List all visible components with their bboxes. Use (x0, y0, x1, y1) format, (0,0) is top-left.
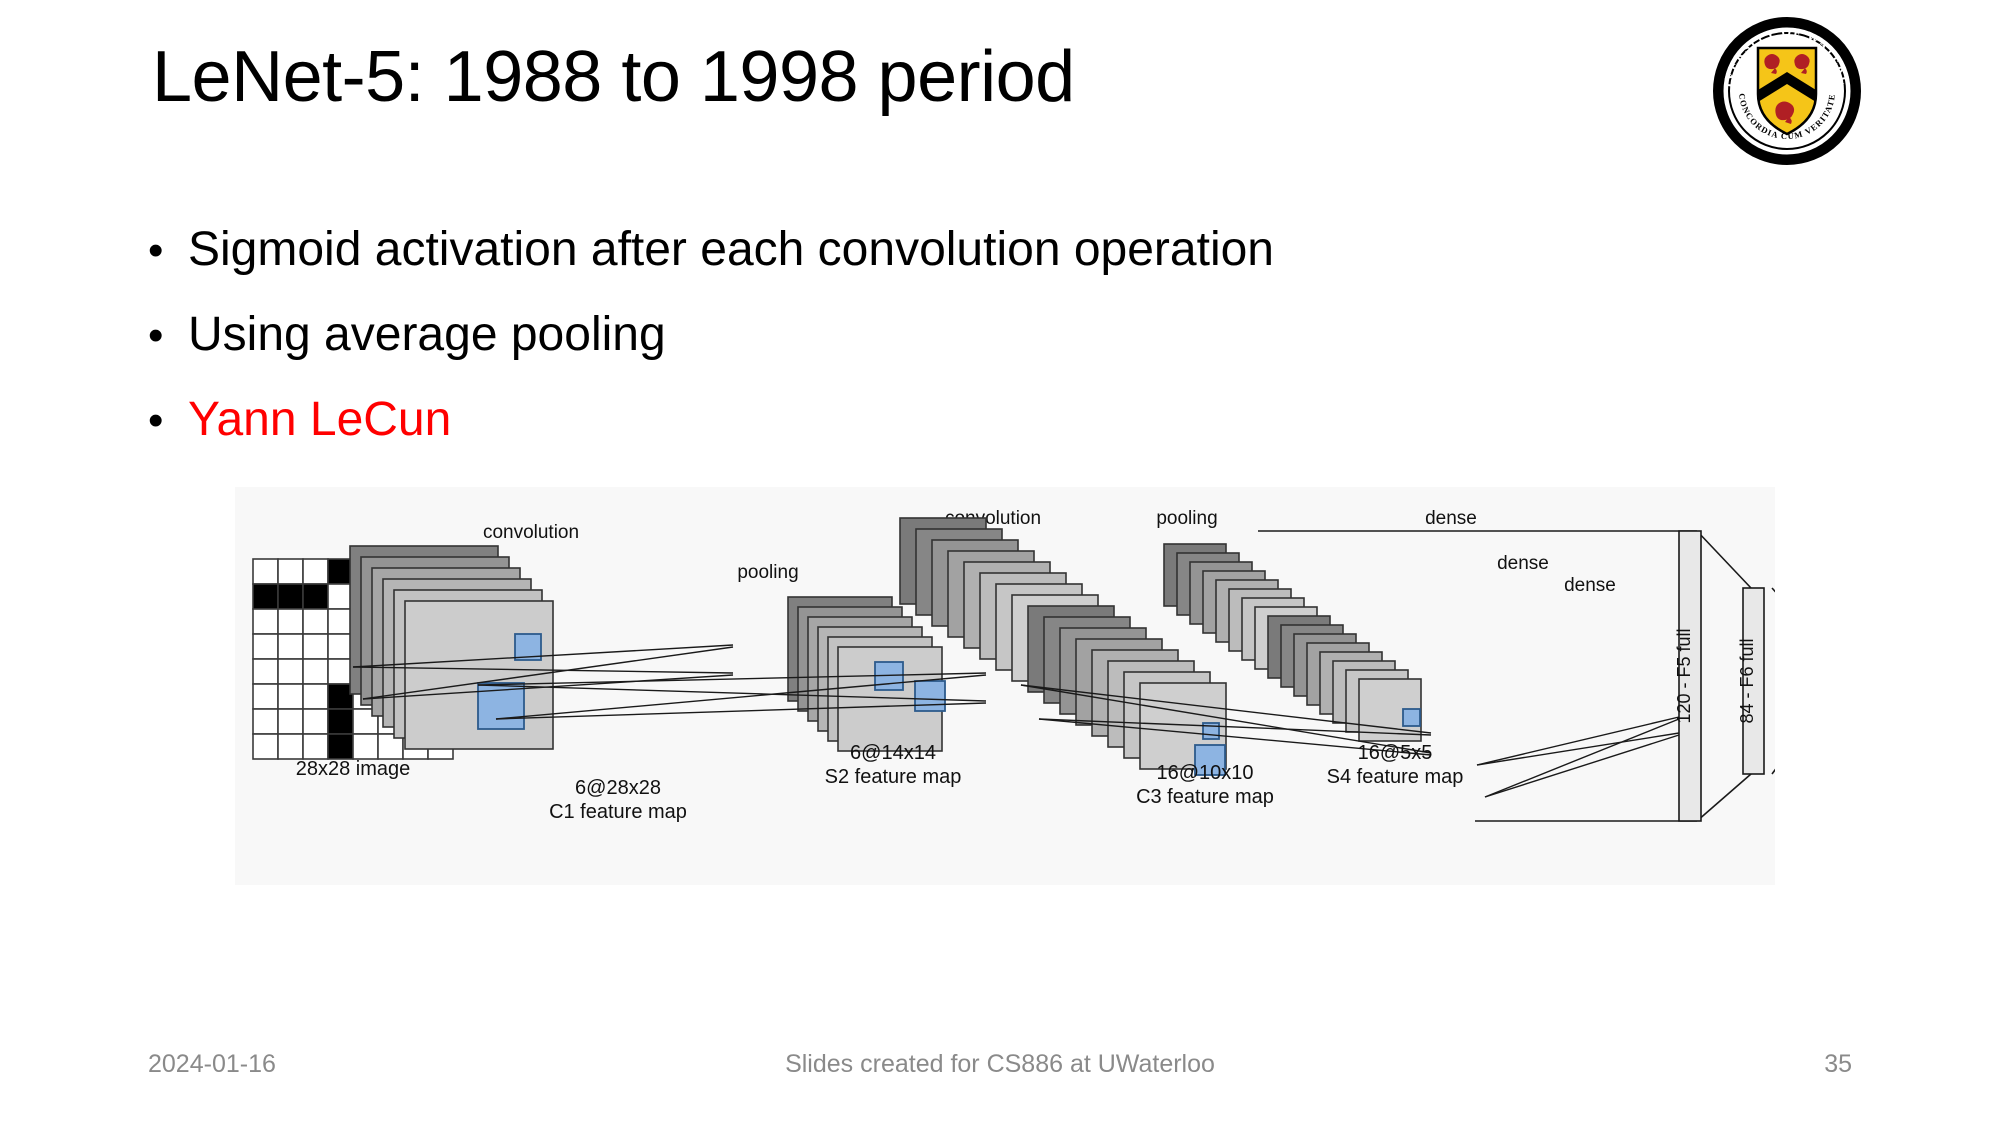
caption-s2-name: S2 feature map (825, 766, 962, 788)
lenet-architecture-figure: convolution pooling convolution pooling … (235, 487, 1775, 885)
input-grid-cell (303, 684, 328, 709)
stage-label-convolution-1: convolution (483, 522, 579, 543)
caption-s2-size: 6@14x14 (850, 742, 936, 764)
input-grid-cell (253, 609, 278, 634)
footer-page-number: 35 (1824, 1050, 1852, 1079)
input-grid-cell (278, 659, 303, 684)
receptive-field-highlight (915, 681, 945, 711)
input-grid-cell (253, 559, 278, 584)
bullet-list: • Sigmoid activation after each convolut… (148, 208, 1648, 463)
input-grid-cell (353, 734, 378, 759)
caption-c3-name: C3 feature map (1136, 786, 1274, 808)
input-grid-cell (328, 709, 353, 734)
input-grid-cell (278, 709, 303, 734)
stage-label-pooling-2: pooling (1156, 508, 1217, 529)
caption-c3-size: 16@10x10 (1156, 762, 1253, 784)
bullet-item-1: • Sigmoid activation after each convolut… (148, 208, 1648, 293)
input-grid-cell (303, 634, 328, 659)
input-grid-cell (253, 734, 278, 759)
input-grid-cell (278, 684, 303, 709)
input-grid-cell (278, 559, 303, 584)
page-title: LeNet-5: 1988 to 1998 period (152, 34, 1632, 120)
input-grid-cell (278, 634, 303, 659)
dense-label-f6: 84 - F6 full (1737, 638, 1757, 723)
caption-c1-size: 6@28x28 (575, 777, 661, 799)
input-grid-cell (303, 559, 328, 584)
caption-c1-name: C1 feature map (549, 801, 687, 823)
footer-attribution: Slides created for CS886 at UWaterloo (0, 1050, 2000, 1079)
caption-input-size: 28x28 image (296, 758, 411, 780)
input-grid-cell (253, 634, 278, 659)
caption-s4-name: S4 feature map (1327, 766, 1464, 788)
input-grid-cell (253, 659, 278, 684)
input-grid-cell (303, 659, 328, 684)
input-grid-cell (328, 734, 353, 759)
bullet-text-1: Sigmoid activation after each convolutio… (188, 208, 1274, 292)
input-grid-cell (303, 584, 328, 609)
bullet-text-3: Yann LeCun (188, 378, 451, 462)
input-grid-cell (253, 584, 278, 609)
bullet-item-2: • Using average pooling (148, 293, 1648, 378)
stage-label-pooling-1: pooling (737, 562, 798, 583)
bullet-item-3: • Yann LeCun (148, 378, 1648, 463)
bullet-marker-icon: • (148, 294, 188, 378)
input-grid-cell (303, 734, 328, 759)
input-grid-cell (278, 584, 303, 609)
university-of-waterloo-crest: UNIVERSITY OF WATERLOO CONCORDIA CUM VER… (1712, 16, 1862, 166)
input-grid-cell (303, 709, 328, 734)
caption-s4-size: 16@5x5 (1358, 742, 1433, 764)
input-grid-cell (253, 709, 278, 734)
input-grid-cell (278, 609, 303, 634)
bullet-marker-icon: • (148, 209, 188, 293)
dense-label-f5: 120 - F5 full (1674, 628, 1694, 723)
input-grid-cell (278, 734, 303, 759)
input-grid-cell (303, 609, 328, 634)
bullet-marker-icon: • (148, 379, 188, 463)
bullet-text-2: Using average pooling (188, 293, 666, 377)
stage-label-dense-1: dense (1425, 508, 1477, 529)
input-grid-cell (253, 684, 278, 709)
